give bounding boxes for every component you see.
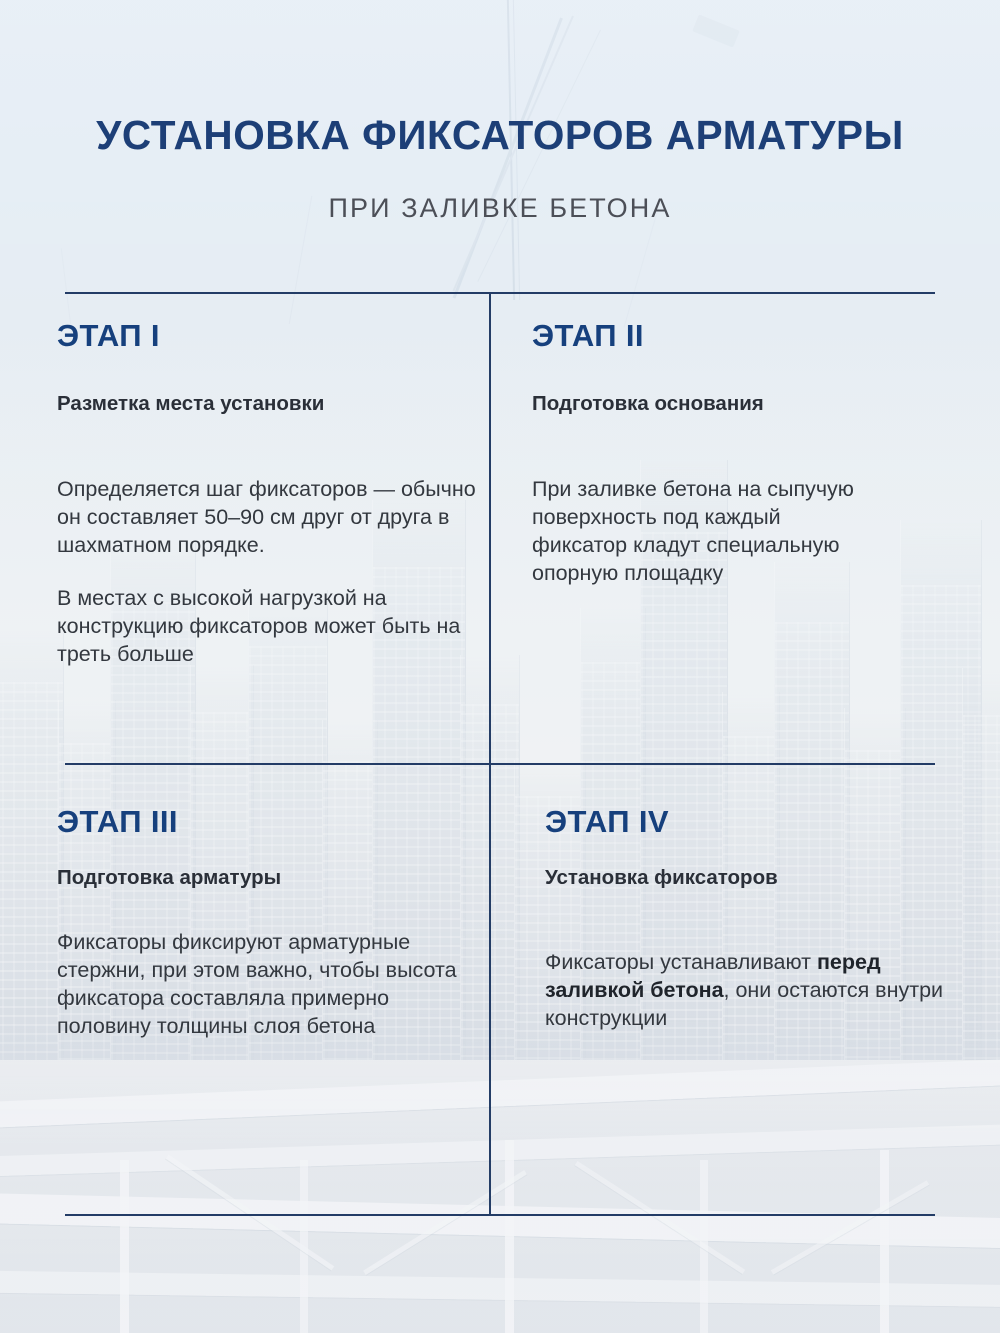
divider-middle-horizontal <box>65 763 935 765</box>
stage-1-body-paragraph-1: Определяется шаг фиксаторов — обычно он … <box>57 475 477 559</box>
stage-2-body-paragraph-1: При заливке бетона на сыпучую поверхност… <box>532 475 862 587</box>
divider-bottom-horizontal <box>65 1214 935 1216</box>
stage-1-subhead: Разметка места установки <box>57 392 324 417</box>
divider-vertical <box>489 293 491 1215</box>
stage-4-subhead: Установка фиксаторов <box>545 866 778 891</box>
stage-2-label: ЭТАП II <box>532 320 644 353</box>
stage-1-body-paragraph-2: В местах с высокой нагрузкой на конструк… <box>57 584 477 668</box>
stage-3-subhead: Подготовка арматуры <box>57 866 281 891</box>
stage-2-subhead: Подготовка основания <box>532 392 764 417</box>
poster-content: УСТАНОВКА ФИКСАТОРОВ АРМАТУРЫ ПРИ ЗАЛИВК… <box>0 0 1000 1333</box>
stage-1-label: ЭТАП I <box>57 320 160 353</box>
stage-4-body-paragraph-1: Фиксаторы устанавливают перед заливкой б… <box>545 948 977 1032</box>
stage-4-label: ЭТАП IV <box>545 806 669 839</box>
infographic-poster: УСТАНОВКА ФИКСАТОРОВ АРМАТУРЫ ПРИ ЗАЛИВК… <box>0 0 1000 1333</box>
stage-3-label: ЭТАП III <box>57 806 178 839</box>
stage-4-text-pre: Фиксаторы устанавливают <box>545 950 817 974</box>
page-subtitle: ПРИ ЗАЛИВКЕ БЕТОНА <box>0 193 1000 224</box>
stage-3-body-paragraph-1: Фиксаторы фиксируют арматурные стержни, … <box>57 928 482 1040</box>
page-title: УСТАНОВКА ФИКСАТОРОВ АРМАТУРЫ <box>0 112 1000 159</box>
divider-top-horizontal <box>65 292 935 294</box>
